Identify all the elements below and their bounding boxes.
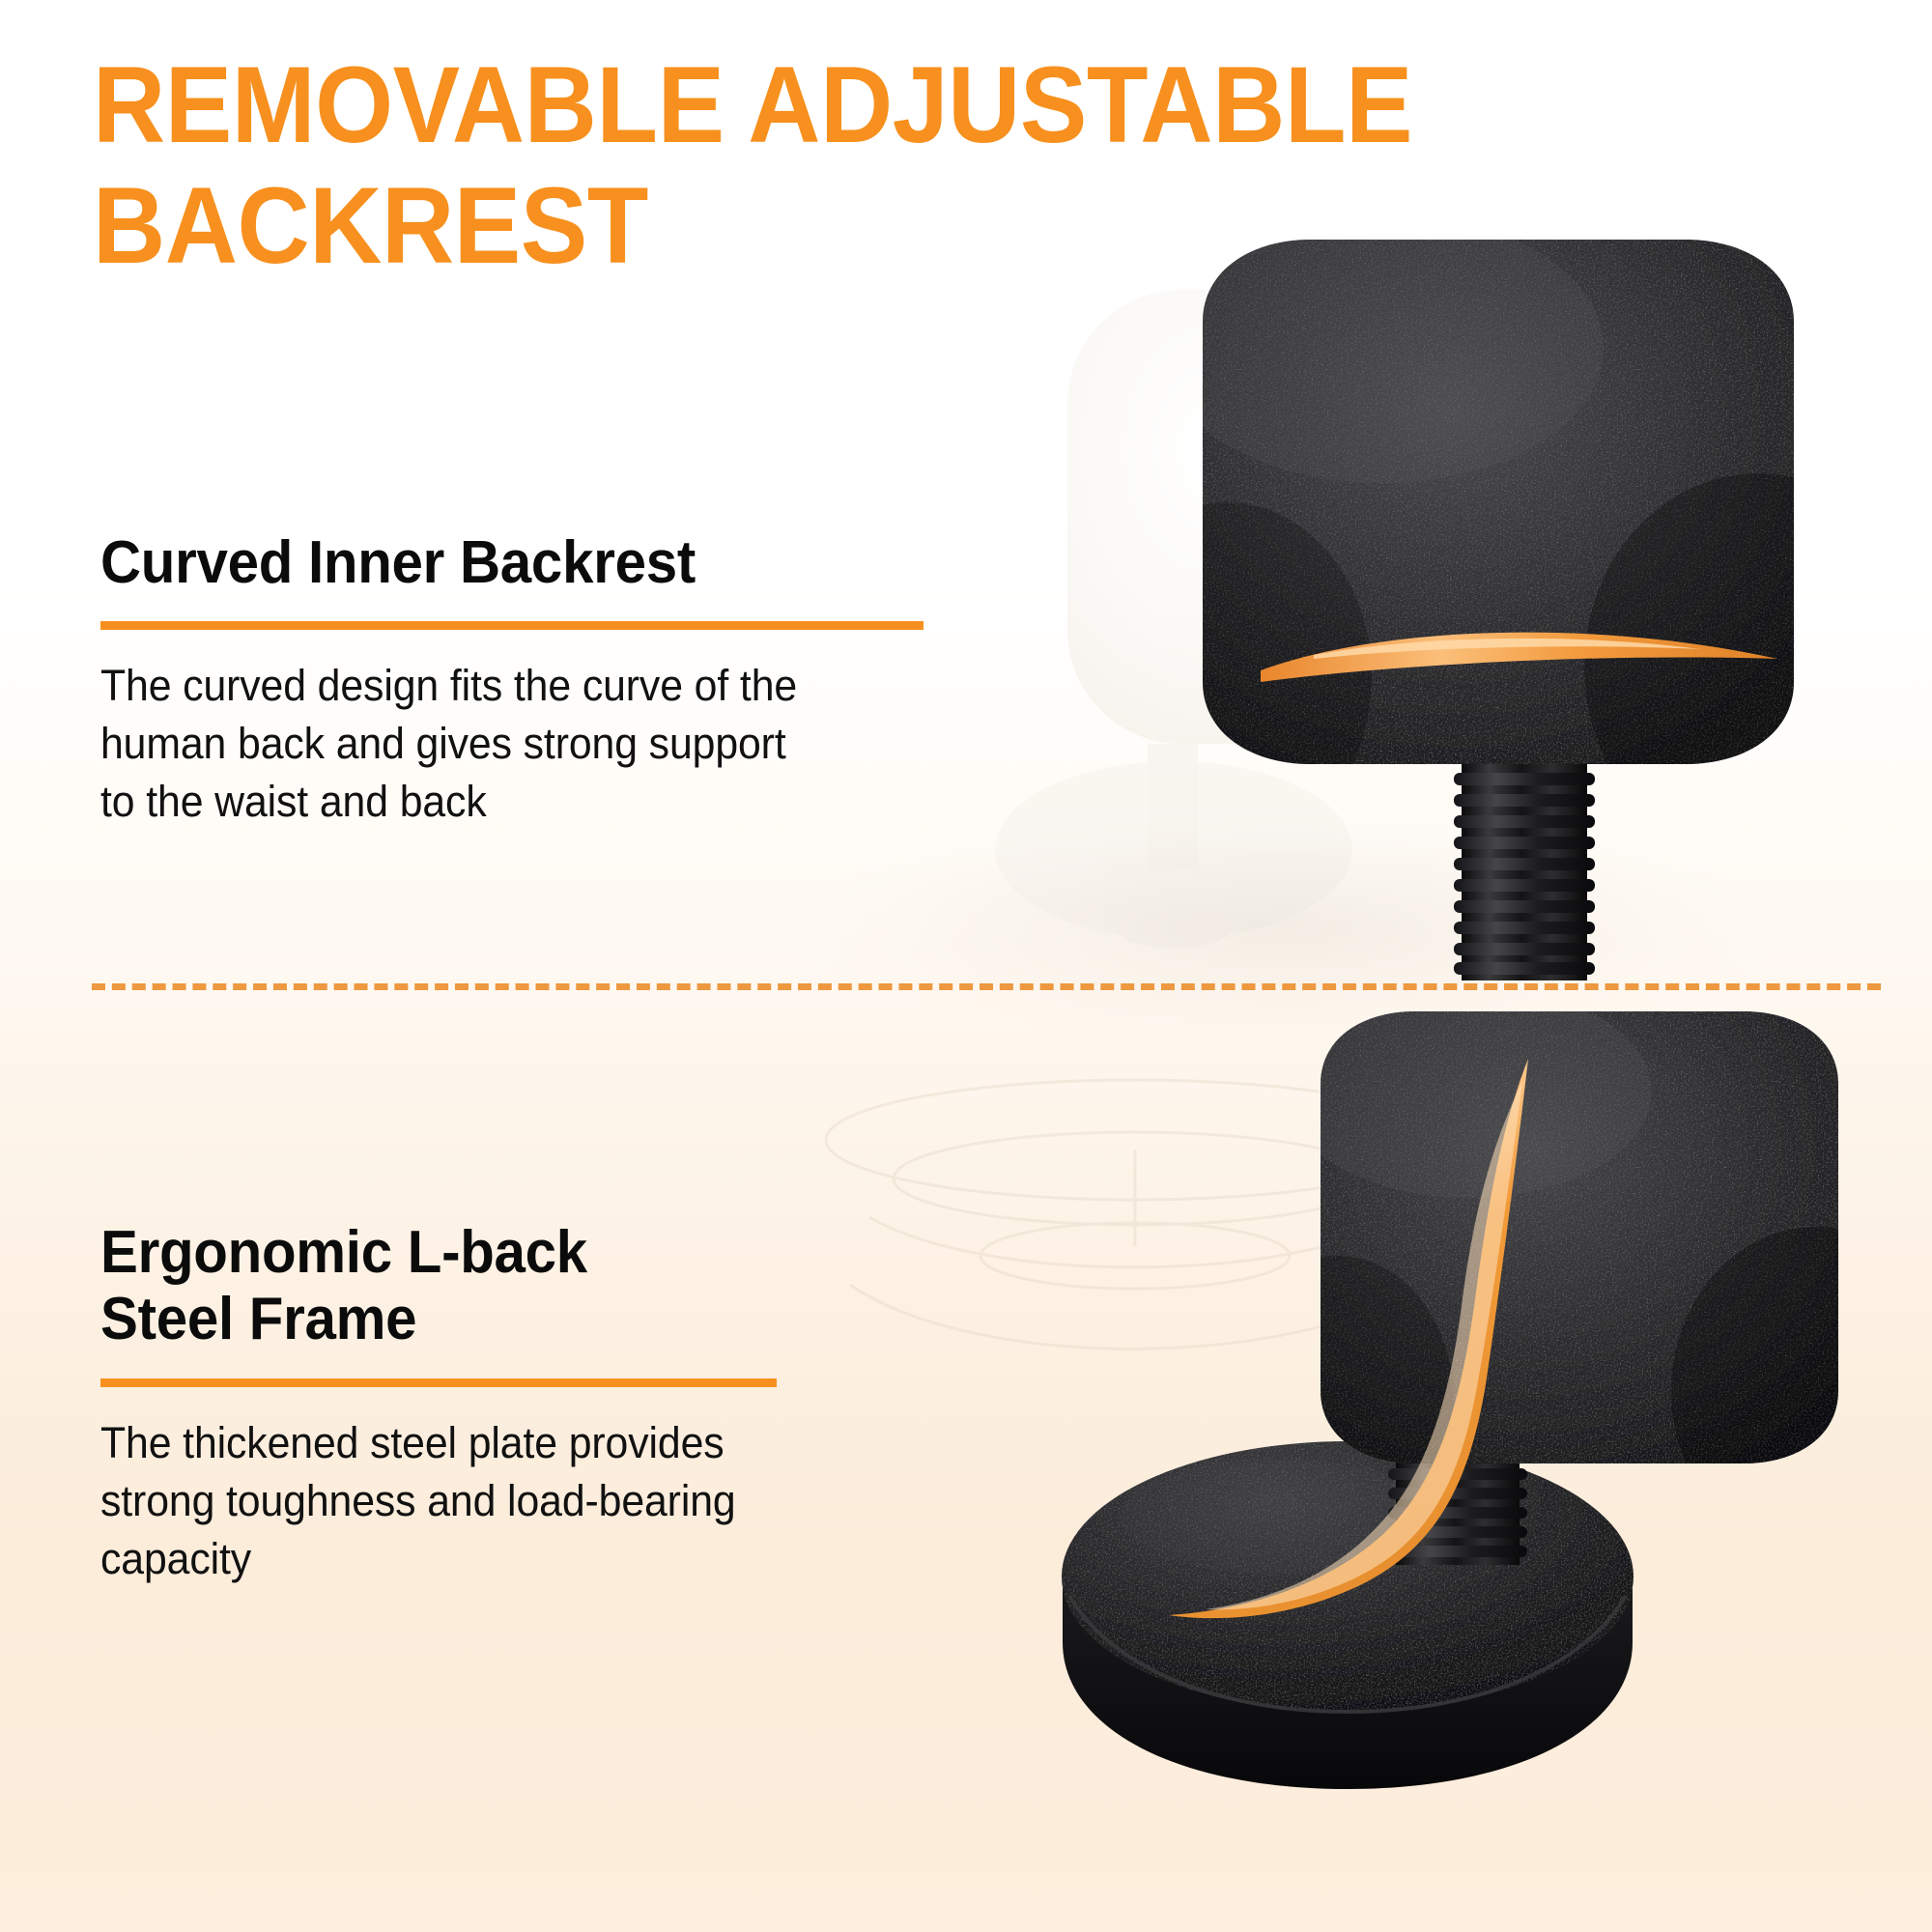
backrest-cushion-top xyxy=(1082,213,1932,860)
product-imagery-stage xyxy=(0,0,1932,1932)
chair-side-assembly-image xyxy=(1062,985,1932,1789)
heading-underline-rule xyxy=(100,1378,777,1387)
section-divider xyxy=(92,983,1881,990)
feature-heading: Ergonomic L-back Steel Frame xyxy=(100,1219,899,1353)
chair-backrest-front-image xyxy=(1082,213,1932,980)
ribbed-post-top xyxy=(1454,763,1595,980)
feature-description: The curved design fits the curve of the … xyxy=(100,630,908,831)
feature-heading: Curved Inner Backrest xyxy=(100,529,899,596)
post-ribs xyxy=(1454,773,1595,975)
heading-underline-rule xyxy=(100,621,923,630)
feature-block-ergonomic-l-back-steel-frame: Ergonomic L-back Steel Frame The thicken… xyxy=(100,1219,951,1587)
ghost-chair-top xyxy=(995,290,1386,949)
orange-curve-accent-top xyxy=(1261,633,1777,682)
feature-block-curved-inner-backrest: Curved Inner Backrest The curved design … xyxy=(100,529,951,831)
seat-cushion-bottom xyxy=(1062,1441,1634,1789)
page-title: REMOVABLE ADJUSTABLE BACKREST xyxy=(93,44,1638,287)
post-ribs-bottom xyxy=(1388,1449,1527,1557)
feature-description: The thickened steel plate provides stron… xyxy=(100,1387,908,1588)
orange-l-frame-accent-bottom xyxy=(1169,1059,1528,1618)
backrest-cushion-bottom xyxy=(1222,985,1932,1555)
ribbed-post-bottom xyxy=(1388,1449,1527,1565)
product-illustration xyxy=(0,0,1932,1932)
product-feature-poster: REMOVABLE ADJUSTABLE BACKREST Curved Inn… xyxy=(0,0,1932,1932)
